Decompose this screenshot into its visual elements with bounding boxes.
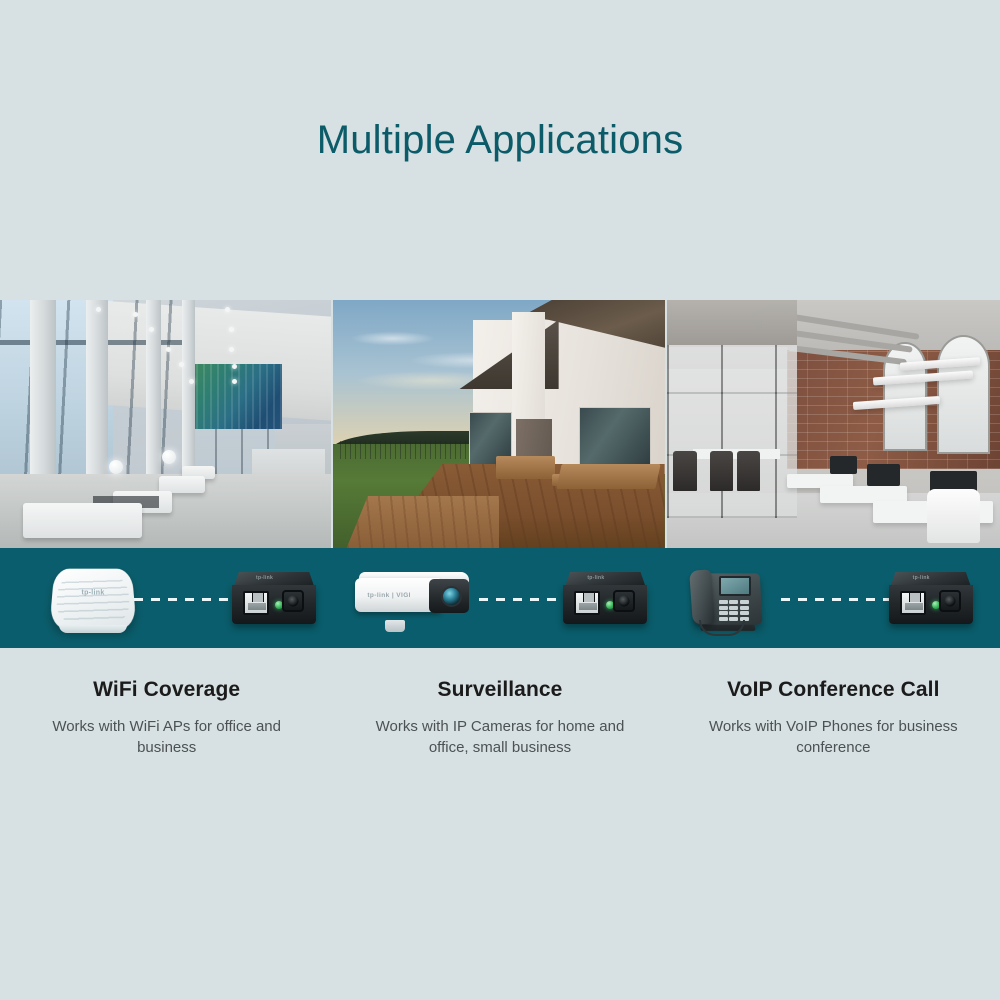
office-meeting-chair xyxy=(737,451,760,491)
tp-link-logo: tp-link xyxy=(81,590,104,597)
caption-title: WiFi Coverage xyxy=(26,678,307,702)
voip-desk-phone-icon xyxy=(689,558,767,638)
tp-link-logo: tp-link xyxy=(913,575,930,581)
phone-handset xyxy=(689,569,715,624)
dashed-ethernet-link xyxy=(134,598,232,601)
lobby-lamp xyxy=(109,460,123,474)
dashed-ethernet-link xyxy=(781,598,889,601)
rj45-port-icon xyxy=(574,591,600,615)
page-title: Multiple Applications xyxy=(0,116,1000,164)
tp-link-logo: tp-link xyxy=(587,575,604,581)
diagram-voip-phone: tp-link xyxy=(667,548,1000,648)
lobby-lamp xyxy=(162,450,176,464)
caption-wifi-coverage: WiFi Coverage Works with WiFi APs for of… xyxy=(0,678,333,759)
office-glass-meeting-room xyxy=(667,345,797,519)
phone-cord xyxy=(699,620,745,636)
house-deck-lower xyxy=(347,496,499,548)
diagram-ip-camera: tp-link | VIGI tp-link xyxy=(333,548,666,648)
caption-description: Works with WiFi APs for office and busin… xyxy=(26,716,307,759)
poe-splitter-icon: tp-link xyxy=(232,572,316,624)
dc-power-jack-icon xyxy=(282,590,304,612)
caption-title: Surveillance xyxy=(359,678,640,702)
caption-surveillance: Surveillance Works with IP Cameras for h… xyxy=(333,678,666,759)
caption-description: Works with VoIP Phones for business conf… xyxy=(693,716,974,759)
office-task-chair xyxy=(927,489,980,544)
application-photo-strip xyxy=(0,300,1000,548)
tp-link-vigi-logo: tp-link | VIGI xyxy=(367,592,411,599)
phone-screen xyxy=(719,576,751,596)
lobby-downlight xyxy=(179,362,184,367)
office-meeting-chair xyxy=(710,451,733,491)
photo-modern-house-deck xyxy=(333,300,664,548)
tp-link-logo: tp-link xyxy=(256,575,273,581)
lobby-pillar xyxy=(182,300,195,474)
caption-title: VoIP Conference Call xyxy=(693,678,974,702)
rj45-port-icon xyxy=(900,591,926,615)
poe-splitter-icon: tp-link xyxy=(563,572,647,624)
lobby-downlight xyxy=(133,312,138,317)
house-deck-table xyxy=(496,456,556,478)
poe-top-face xyxy=(565,572,645,586)
dc-power-jack-icon xyxy=(613,590,635,612)
application-captions: WiFi Coverage Works with WiFi APs for of… xyxy=(0,678,1000,759)
poe-top-face xyxy=(891,572,971,586)
ap-ridges xyxy=(55,576,131,621)
house-deck-lounger xyxy=(556,464,661,489)
dashed-ethernet-link xyxy=(479,598,563,601)
dc-power-jack-icon xyxy=(939,590,961,612)
caption-voip-conference-call: VoIP Conference Call Works with VoIP Pho… xyxy=(667,678,1000,759)
office-arched-window xyxy=(937,335,990,454)
lobby-downlight xyxy=(229,347,234,352)
office-meeting-chair xyxy=(673,451,696,491)
poe-top-face xyxy=(234,572,314,586)
camera-mount xyxy=(385,620,405,632)
ap-base xyxy=(59,625,128,633)
lobby-sofa xyxy=(23,503,142,538)
ceiling-wifi-access-point-icon: tp-link xyxy=(52,566,134,628)
office-monitor xyxy=(830,456,857,473)
lobby-downlight xyxy=(229,327,234,332)
bullet-ip-camera-icon: tp-link | VIGI xyxy=(355,570,475,626)
office-monitor xyxy=(867,464,900,486)
office-upper-wall xyxy=(667,300,797,347)
diagram-wifi-ap: tp-link tp-link xyxy=(0,548,333,648)
phone-keypad xyxy=(719,600,749,621)
device-diagram-band: tp-link tp-link tp-link | VIGI tp-link xyxy=(0,548,1000,648)
lobby-downlight xyxy=(166,347,171,352)
lobby-wall-art xyxy=(189,364,282,428)
photo-modern-hotel-lobby xyxy=(0,300,331,548)
house-window xyxy=(579,407,652,469)
caption-description: Works with IP Cameras for home and offic… xyxy=(359,716,640,759)
photo-industrial-open-office xyxy=(667,300,1000,548)
poe-splitter-icon: tp-link xyxy=(889,572,973,624)
rj45-port-icon xyxy=(243,591,269,615)
